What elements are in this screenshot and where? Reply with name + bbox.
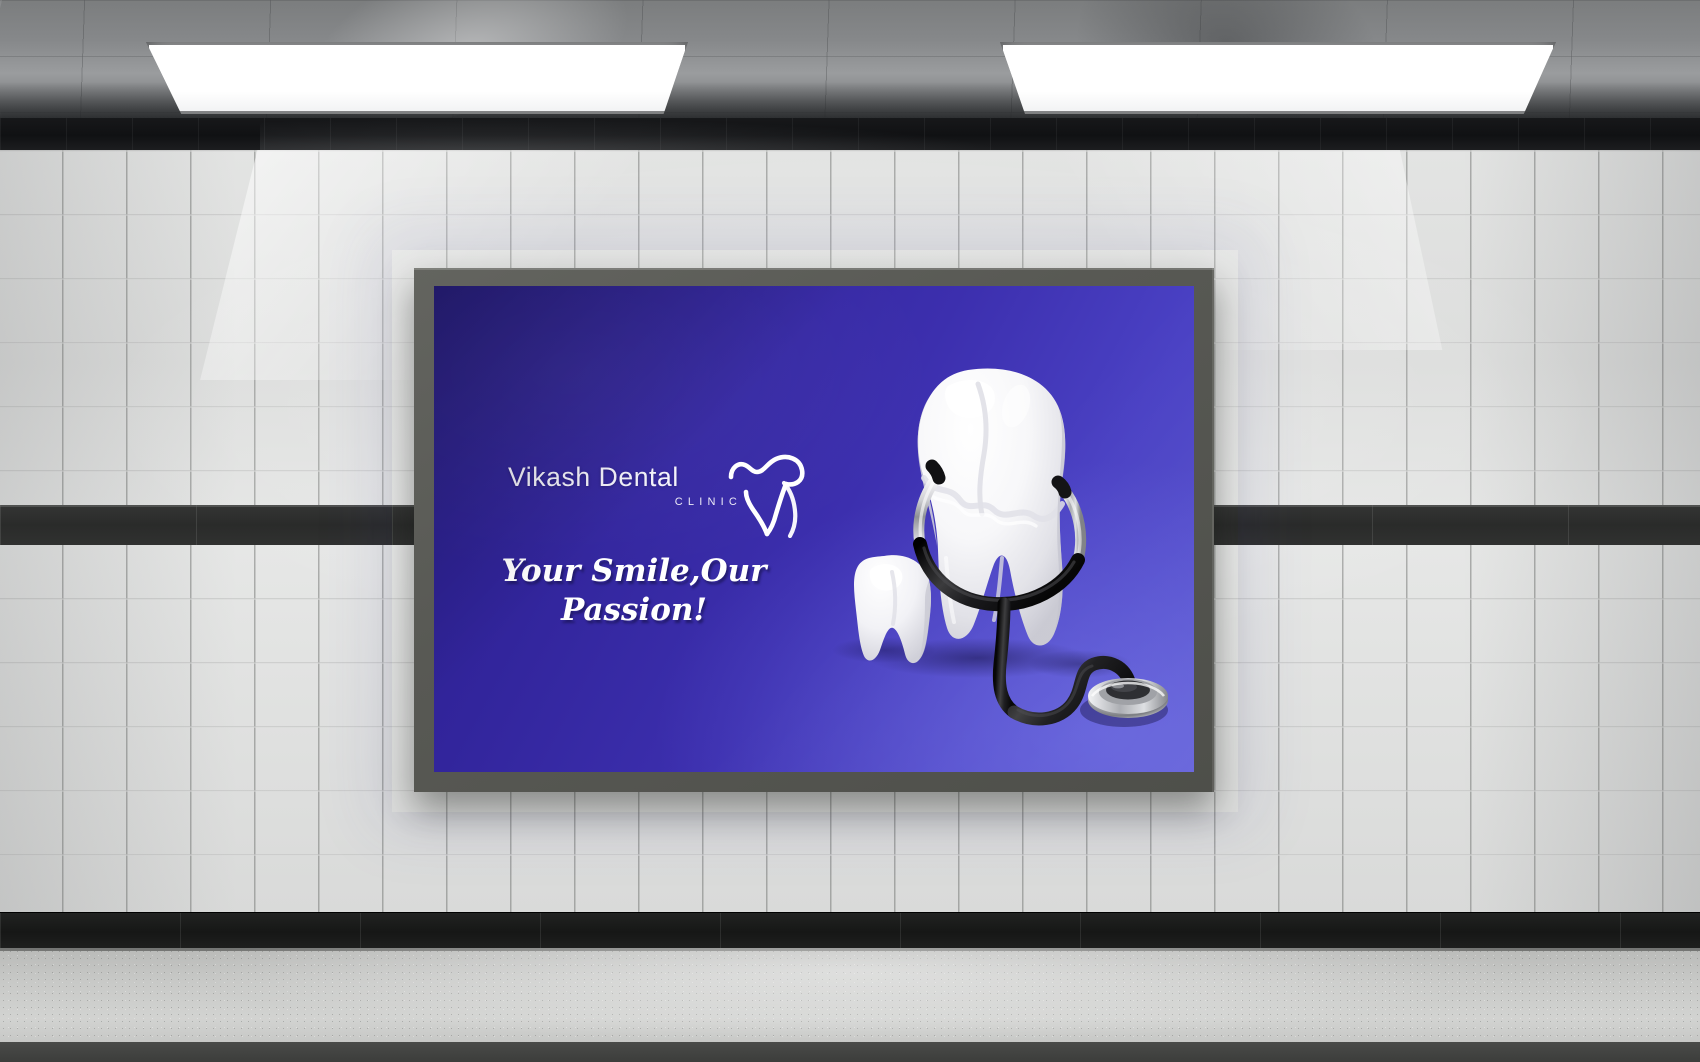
light-panel-lens (1003, 45, 1553, 111)
molar-tooth-with-stethoscope (772, 358, 1192, 748)
logo-subtitle: CLINIC (508, 496, 748, 508)
tagline-line-1: Your Smile,Our (502, 553, 767, 589)
lower-dark-tile-band (0, 913, 1700, 948)
billboard-frame[interactable]: Vikash Dental CLINIC Your Smile,Our Pass… (414, 268, 1214, 792)
stethoscope-chest-piece (1080, 678, 1168, 727)
light-panel-lens (149, 45, 685, 111)
floor-front-edge (0, 1042, 1700, 1062)
tagline-line-2: Passion! (486, 591, 782, 630)
poster-tagline: Your Smile,Our Passion! (486, 552, 782, 631)
band-sheen (260, 118, 1020, 150)
upper-dark-tile-band (0, 118, 1700, 150)
band-seams (0, 913, 1700, 948)
recessed-light-panel-left (146, 42, 688, 114)
logo-wordmark: Vikash Dental (508, 462, 748, 493)
recessed-light-panel-right (1000, 42, 1556, 114)
ceiling (0, 0, 1700, 118)
station-scene: Vikash Dental CLINIC Your Smile,Our Pass… (0, 0, 1700, 1062)
clinic-logo: Vikash Dental CLINIC (508, 462, 748, 508)
dental-clinic-poster[interactable]: Vikash Dental CLINIC Your Smile,Our Pass… (434, 286, 1194, 772)
station-floor (0, 948, 1700, 1062)
